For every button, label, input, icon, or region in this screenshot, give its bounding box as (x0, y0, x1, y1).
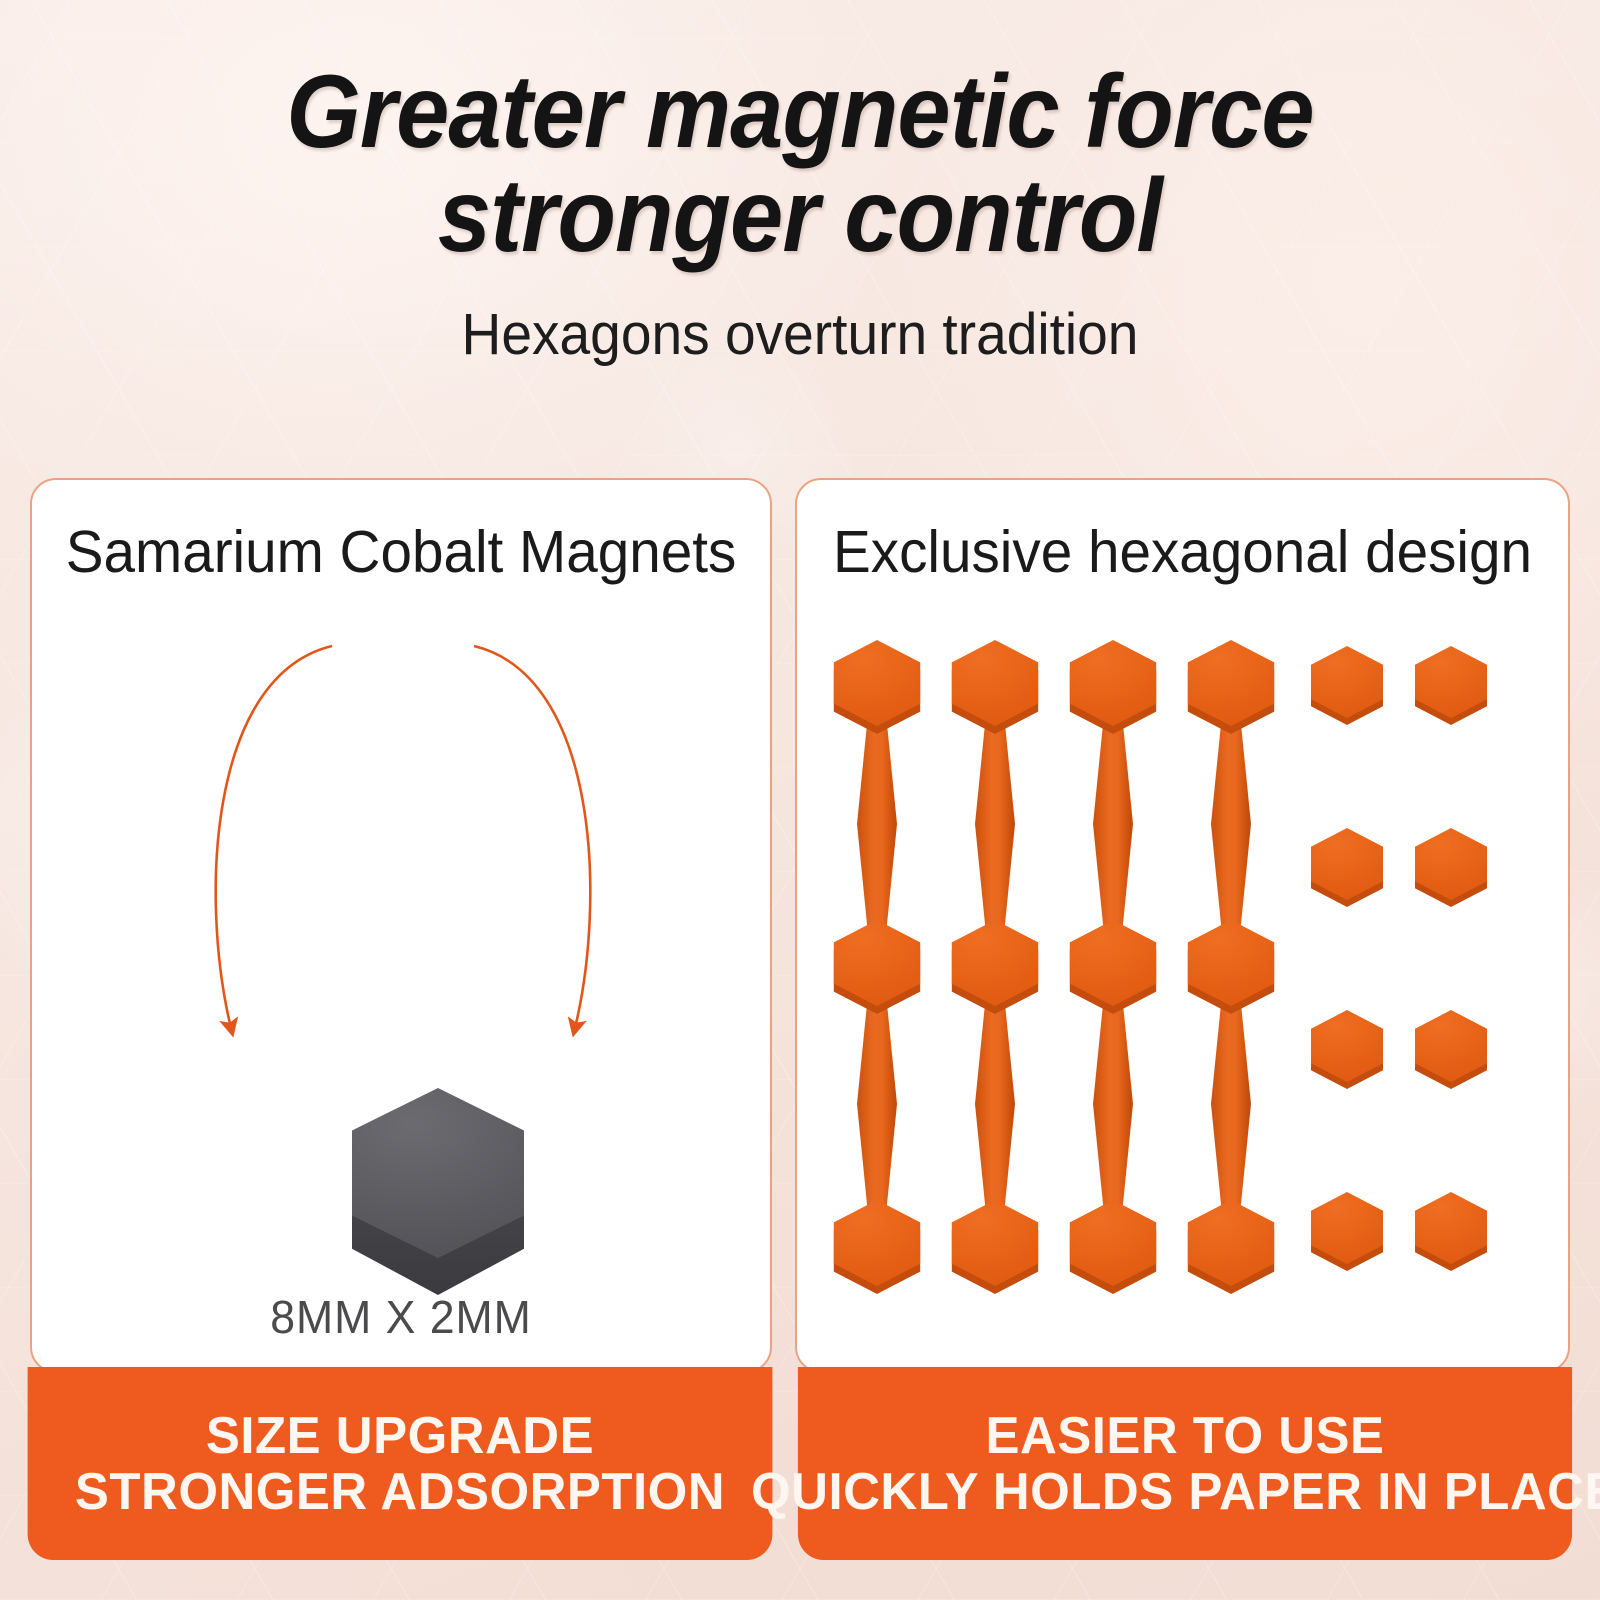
hexagon-connector-bar (857, 712, 897, 936)
connector-bar-surface (1211, 992, 1251, 1216)
banner-easier-to-use: EASIER TO USE QUICKLY HOLDS PAPER IN PLA… (798, 1367, 1572, 1560)
banner-left-line1: SIZE UPGRADE (206, 1408, 594, 1464)
connector-bar-surface (975, 992, 1015, 1216)
hexagon-product-grid (797, 640, 1570, 1340)
hexagon-magnet (1065, 640, 1161, 726)
hexagon-magnet (1411, 828, 1491, 900)
hexagon-magnet (1307, 646, 1387, 718)
hexagon-magnet (829, 1200, 925, 1286)
hexagon-magnet (947, 1200, 1043, 1286)
banner-left-line2: STRONGER ADSORPTION (75, 1464, 725, 1520)
hexagon-connector-bar (975, 992, 1015, 1216)
banner-right-line1: EASIER TO USE (985, 1408, 1384, 1464)
hexagon-magnet (1065, 1200, 1161, 1286)
hexagon-magnet (1411, 1010, 1491, 1082)
hexagon-connector-bar (1093, 992, 1133, 1216)
connector-bar-surface (857, 712, 897, 936)
dimension-label-small: 8MM X 2MM (43, 1292, 759, 1342)
hexagon-connector-bar (1211, 992, 1251, 1216)
page-subtitle: Hexagons overturn tradition (40, 304, 1560, 366)
hexagon-magnet (829, 920, 925, 1006)
card-exclusive-hexagonal-design: Exclusive hexagonal design (795, 478, 1570, 1373)
connector-bar-surface (975, 712, 1015, 936)
arrow-left-curve (216, 646, 332, 1028)
connector-bar-surface (1211, 712, 1251, 936)
hexagon-magnet (1183, 640, 1279, 726)
left-card-title: Samarium Cobalt Magnets (47, 520, 755, 584)
hexagon-magnet (1183, 1200, 1279, 1286)
hexagon-magnet (829, 640, 925, 726)
page-title-line1: Greater magnetic force (64, 62, 1536, 162)
connector-bar-surface (857, 992, 897, 1216)
right-card-title: Exclusive hexagonal design (812, 520, 1552, 584)
hexagon-magnet (1411, 1192, 1491, 1264)
page-title-line2: stronger control (64, 166, 1536, 266)
hexagon-connector-bar (1211, 712, 1251, 936)
hexagon-connector-bar (1093, 712, 1133, 936)
card-samarium-cobalt-magnets: Samarium Cobalt Magnets 8MM X 2MM 10MM X… (30, 478, 772, 1373)
hexagon-magnet (947, 920, 1043, 1006)
arrow-right-curve (474, 646, 590, 1028)
banner-size-upgrade: SIZE UPGRADE STRONGER ADSORPTION (28, 1367, 773, 1560)
hexagon-magnet (1307, 828, 1387, 900)
hexagon-magnet (1183, 920, 1279, 1006)
dark-magnet-8mm (338, 1088, 538, 1273)
hexagon-connector-bar (975, 712, 1015, 936)
header-block: Greater magnetic force stronger control … (0, 62, 1600, 366)
connector-bar-surface (1093, 712, 1133, 936)
hexagon-magnet (1411, 646, 1491, 718)
banner-right-line2: QUICKLY HOLDS PAPER IN PLACE (751, 1464, 1600, 1520)
hexagon-magnet (1307, 1010, 1387, 1082)
hexagon-magnet (1065, 920, 1161, 1006)
hexagon-connector-bar (857, 992, 897, 1216)
hexagon-magnet (1307, 1192, 1387, 1264)
hexagon-magnet (947, 640, 1043, 726)
connector-bar-surface (1093, 992, 1133, 1216)
